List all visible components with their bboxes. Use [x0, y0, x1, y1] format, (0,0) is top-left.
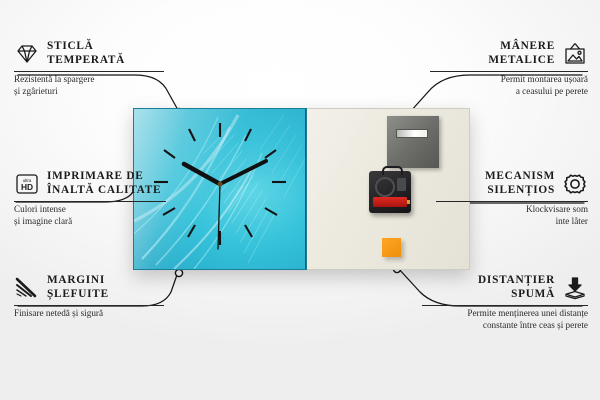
- feature-hooks-subtitle: Permit montarea ușoară a ceasului pe per…: [430, 74, 588, 98]
- feature-spacer-subtitle: Permite menținerea unei distanțe constan…: [422, 308, 588, 332]
- metal-hanger-plate: [387, 116, 439, 168]
- orange-foam-spacer: [382, 238, 401, 257]
- ultra-hd-icon: ultra HD: [14, 172, 40, 196]
- hands-cap: [218, 182, 223, 187]
- mechanism-lug: [382, 166, 403, 175]
- feature-spacer: DISTANȚIER SPUMĂ Permite menținerea unei…: [422, 274, 588, 332]
- feature-glass-subtitle: Rezistentă la spargere și zgârieturi: [14, 74, 164, 98]
- feature-glass-title: STICLĂ TEMPERATĂ: [47, 40, 125, 68]
- picture-hanger-icon: [562, 42, 588, 66]
- divider: [430, 71, 588, 72]
- second-hand: [218, 184, 220, 249]
- feature-mechanism: MECANISM SILENȚIOS Klockvisare som inte …: [436, 170, 588, 228]
- feature-hooks-title: MÂNERE METALICE: [488, 40, 555, 68]
- aa-battery: [373, 197, 407, 207]
- polished-edges-icon: [14, 276, 40, 300]
- divider: [436, 201, 588, 202]
- feature-print-title: IMPRIMARE DE ÎNALTĂ CALITATE: [47, 170, 161, 198]
- feature-edges-subtitle: Finisare netedă și sigură: [14, 308, 164, 320]
- ultra-hd-icon-big: HD: [21, 182, 33, 192]
- hour-hand: [184, 164, 220, 184]
- leader-dot-edges: [175, 269, 182, 276]
- hanger-slot: [396, 129, 428, 138]
- panel-right-edge: [305, 109, 307, 269]
- product-image: [133, 108, 469, 268]
- feature-mechanism-title: MECANISM SILENȚIOS: [485, 170, 555, 198]
- divider: [14, 305, 164, 306]
- diamond-icon: [14, 42, 40, 66]
- feature-glass: STICLĂ TEMPERATĂ Rezistentă la spargere …: [14, 40, 164, 98]
- quartz-mechanism-box: [369, 171, 411, 213]
- feature-print-subtitle: Culori intense și imagine clară: [14, 204, 166, 228]
- mechanism-bar: [397, 178, 406, 191]
- divider: [14, 201, 166, 202]
- divider: [422, 305, 588, 306]
- feature-mechanism-subtitle: Klockvisare som inte låter: [436, 204, 588, 228]
- divider: [14, 71, 164, 72]
- mechanism-dial: [375, 177, 395, 197]
- minute-hand: [220, 161, 266, 184]
- foam-spacer-arrow-icon: [562, 276, 588, 300]
- infographic-stage: STICLĂ TEMPERATĂ Rezistentă la spargere …: [0, 0, 600, 400]
- gear-icon: [562, 172, 588, 196]
- feature-spacer-title: DISTANȚIER SPUMĂ: [478, 274, 555, 302]
- feature-edges: MARGINI ȘLEFUITE Finisare netedă și sigu…: [14, 274, 164, 320]
- feature-print: ultra HD IMPRIMARE DE ÎNALTĂ CALITATE Cu…: [14, 170, 166, 228]
- feature-edges-title: MARGINI ȘLEFUITE: [47, 274, 109, 302]
- feature-hooks: MÂNERE METALICE Permit montarea ușoară a…: [430, 40, 588, 98]
